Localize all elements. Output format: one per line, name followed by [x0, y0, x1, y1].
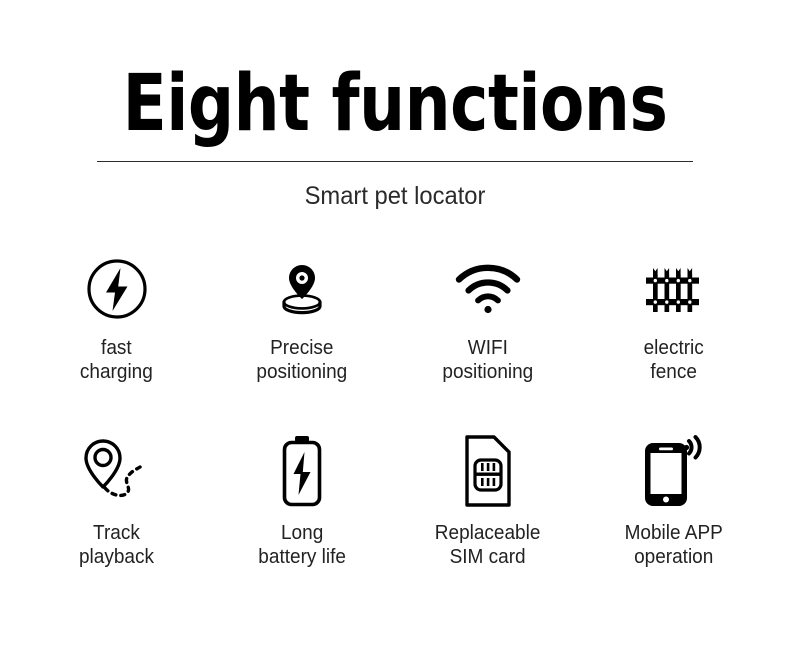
fast-charging-icon	[85, 253, 149, 325]
feature-item-sim-card: Replaceable SIM card	[395, 432, 581, 569]
feature-label: WIFI positioning	[442, 336, 533, 384]
feature-item-battery-life: Long battery life	[210, 432, 396, 569]
page-title: Eight functions	[32, 58, 759, 150]
mobile-app-icon	[639, 432, 707, 510]
feature-label: Mobile APP operation	[624, 521, 722, 569]
feature-label: Replaceable SIM card	[435, 521, 541, 569]
feature-label: Precise positioning	[257, 336, 348, 384]
feature-label: Long battery life	[258, 521, 346, 569]
feature-item-track-playback: Track playback	[24, 432, 210, 569]
title-divider	[97, 161, 693, 162]
feature-label: Track playback	[79, 521, 154, 569]
wifi-positioning-icon	[454, 253, 522, 325]
track-playback-icon	[79, 432, 155, 510]
feature-infographic: Eight functions Smart pet locator fast c…	[0, 0, 790, 670]
feature-item-electric-fence: electric fence	[581, 253, 767, 384]
precise-positioning-icon	[270, 253, 334, 325]
feature-item-wifi-positioning: WIFI positioning	[395, 253, 581, 384]
feature-label: electric fence	[643, 336, 703, 384]
header: Eight functions Smart pet locator	[0, 0, 790, 211]
feature-item-mobile-app: Mobile APP operation	[581, 432, 767, 569]
sim-card-icon	[459, 432, 517, 510]
feature-item-fast-charging: fast charging	[24, 253, 210, 384]
electric-fence-icon	[643, 253, 703, 325]
battery-life-icon	[277, 432, 327, 510]
page-subtitle: Smart pet locator	[20, 181, 771, 211]
feature-grid: fast charging Precise positioning	[0, 253, 790, 569]
feature-item-precise-positioning: Precise positioning	[210, 253, 396, 384]
feature-label: fast charging	[80, 336, 153, 384]
